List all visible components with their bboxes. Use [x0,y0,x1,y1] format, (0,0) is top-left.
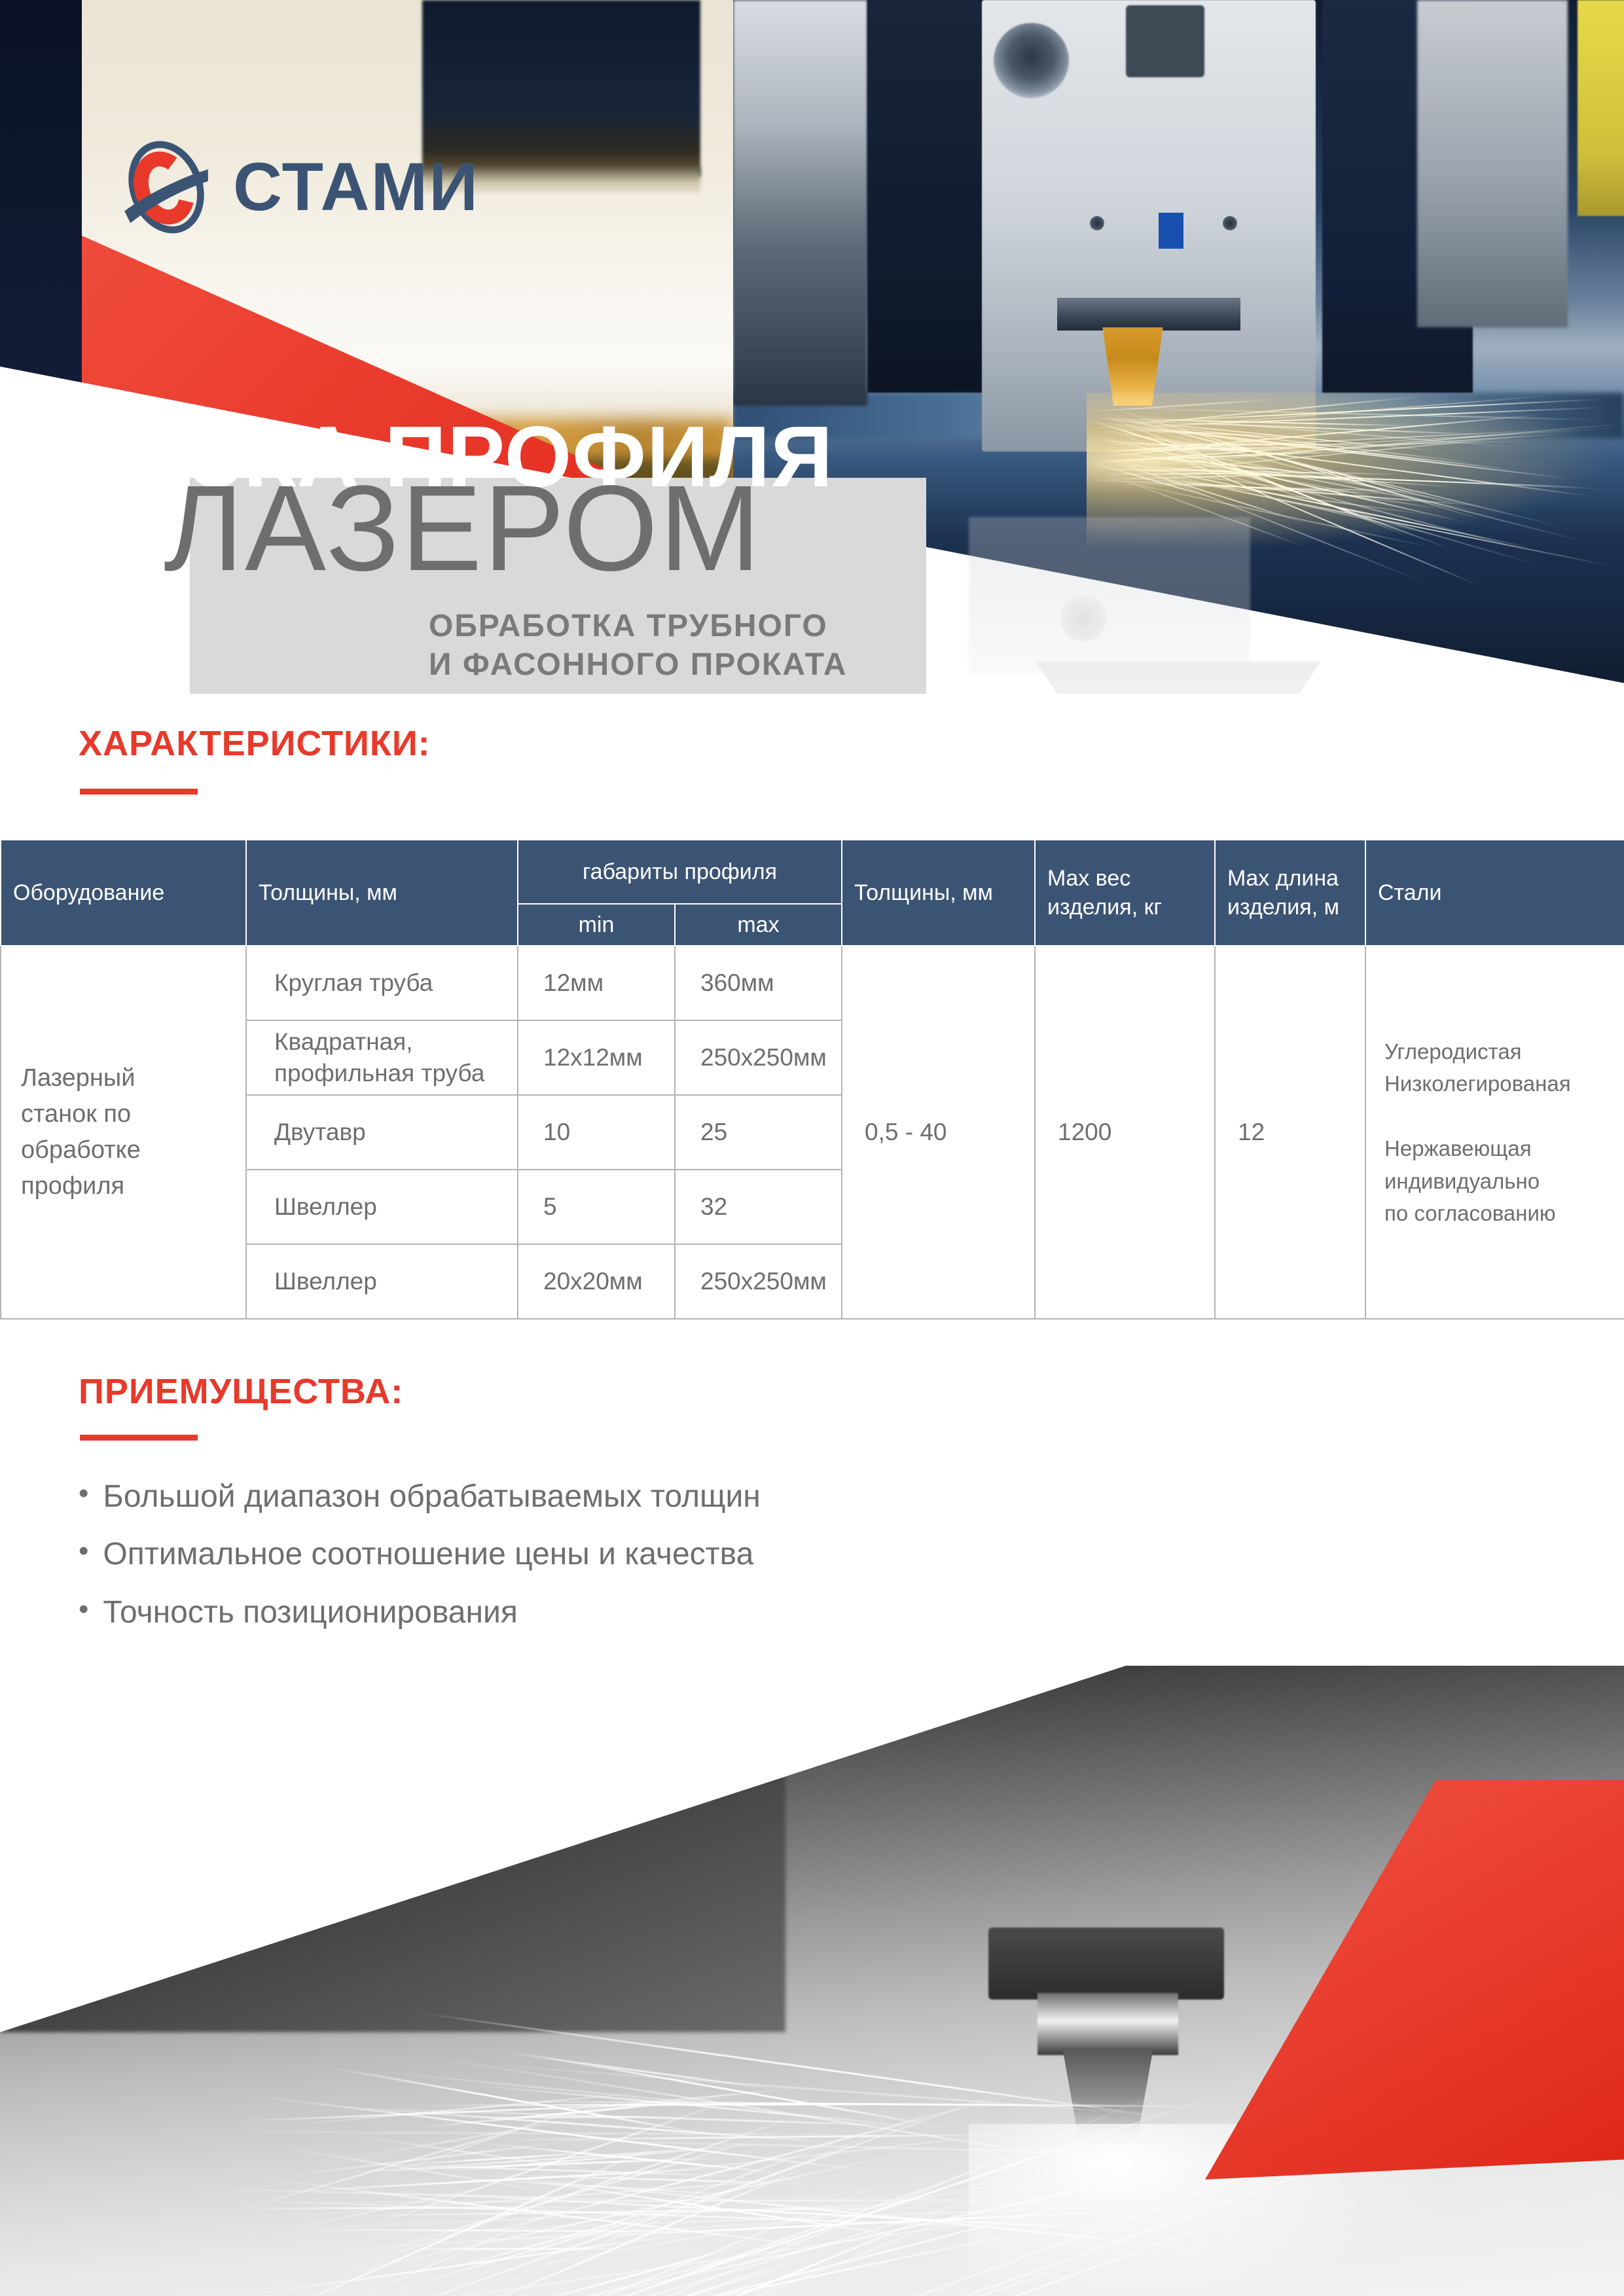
advantage-text: Точность позиционирования [103,1588,517,1637]
advantage-text: Большой диапазон обрабатываемых толщин [103,1473,760,1521]
th-max-length: Max длина изделия, м [1215,840,1365,946]
table-row: Лазерный станок по обработке профиля Кру… [1,946,1624,1020]
td-profile-max: 250x250мм [675,1244,842,1319]
photo2-screw-left [1090,216,1104,230]
ghost-body [969,517,1250,674]
advantages-heading: ПРИЕМУЩЕСТВА: [79,1371,403,1412]
td-profile-name: Двутавр [246,1095,518,1170]
td-profile-max: 32 [675,1170,842,1244]
td-profile-max: 25 [675,1095,842,1170]
td-equipment: Лазерный станок по обработке профиля [1,946,246,1319]
td-max-weight-value: 1200 [1035,946,1215,1319]
photo2-nozzle-base [1057,298,1240,331]
list-item: • Точность позиционирования [79,1588,1191,1637]
brand-logo[interactable]: СТАМИ [117,128,535,246]
td-profile-name: Швеллер [246,1244,518,1319]
advantage-text: Оптимальное соотношение цены и качества [103,1530,753,1579]
td-profile-max: 250x250мм [675,1020,842,1095]
photo2-screw-right [1223,216,1237,230]
photo2-blue-label [1159,213,1183,249]
footer-nozzle-arm [988,1928,1224,2000]
td-steels-value: Углеродистая Низколегированая Нержавеюща… [1365,946,1624,1319]
bullet-icon: • [79,1530,88,1572]
banner-ghost-machine [910,497,1624,694]
th-profile-dims: габариты профиля [518,840,842,904]
th-thickness-left: Толщины, мм [246,840,518,946]
list-item: • Оптимальное соотношение цены и качеств… [79,1530,1191,1579]
table-header-row-1: Оборудование Толщины, мм габариты профил… [1,840,1624,904]
brand-name: СТАМИ [233,149,479,226]
td-thickness-value: 0,5 - 40 [842,946,1035,1319]
th-thickness-right: Толщины, мм [842,840,1035,946]
list-item: • Большой диапазон обрабатываемых толщин [79,1473,1191,1521]
photo2-head-plate [1126,5,1204,77]
td-profile-min: 20x20мм [518,1244,675,1319]
bullet-icon: • [79,1473,88,1515]
th-max-weight: Max вес изделия, кг [1035,840,1215,946]
td-profile-min: 12мм [518,946,675,1020]
hero-banner: СТАМИ РЕЗКА ПРОФИЛЯ ЛАЗЕРОМ ОБРАБОТКА ТР… [0,0,1624,694]
hero-title-line2: ЛАЗЕРОМ [164,468,762,590]
advantages-rule [80,1435,198,1441]
characteristics-heading: ХАРАКТЕРИСТИКИ: [79,723,431,764]
td-profile-name: Круглая труба [246,946,518,1020]
hero-subtitle: ОБРАБОТКА ТРУБНОГО И ФАСОННОГО ПРОКАТА [429,607,848,684]
td-max-length-value: 12 [1215,946,1365,1319]
photo2-column-left [733,0,867,406]
photo2-column-dark [867,0,988,393]
footer-nozzle-collar [1038,1993,1178,2055]
hero-grey-panel-fade [190,684,926,694]
th-min: min [518,904,675,946]
bullet-icon: • [79,1588,88,1630]
td-profile-min: 12x12мм [518,1020,675,1095]
ghost-foot [1008,661,1348,694]
photo2-lens [994,23,1069,98]
advantages-list: • Большой диапазон обрабатываемых толщин… [79,1473,1191,1646]
td-profile-min: 5 [518,1170,675,1244]
th-max: max [675,904,842,946]
th-steels: Стали [1365,840,1624,946]
specifications-table: Оборудование Толщины, мм габариты профил… [0,839,1624,1319]
th-equipment: Оборудование [1,840,246,946]
footer-image [0,1666,1624,2296]
stami-logo-icon [117,137,216,237]
photo2-column-light-right [1417,0,1568,327]
ghost-lens-icon [1060,596,1106,641]
td-profile-max: 360мм [675,946,842,1020]
td-profile-min: 10 [518,1095,675,1170]
td-profile-name: Швеллер [246,1170,518,1244]
photo2-yellow-panel [1578,0,1624,216]
characteristics-rule [80,789,198,795]
td-profile-name: Квадратная, профильная труба [246,1020,518,1095]
